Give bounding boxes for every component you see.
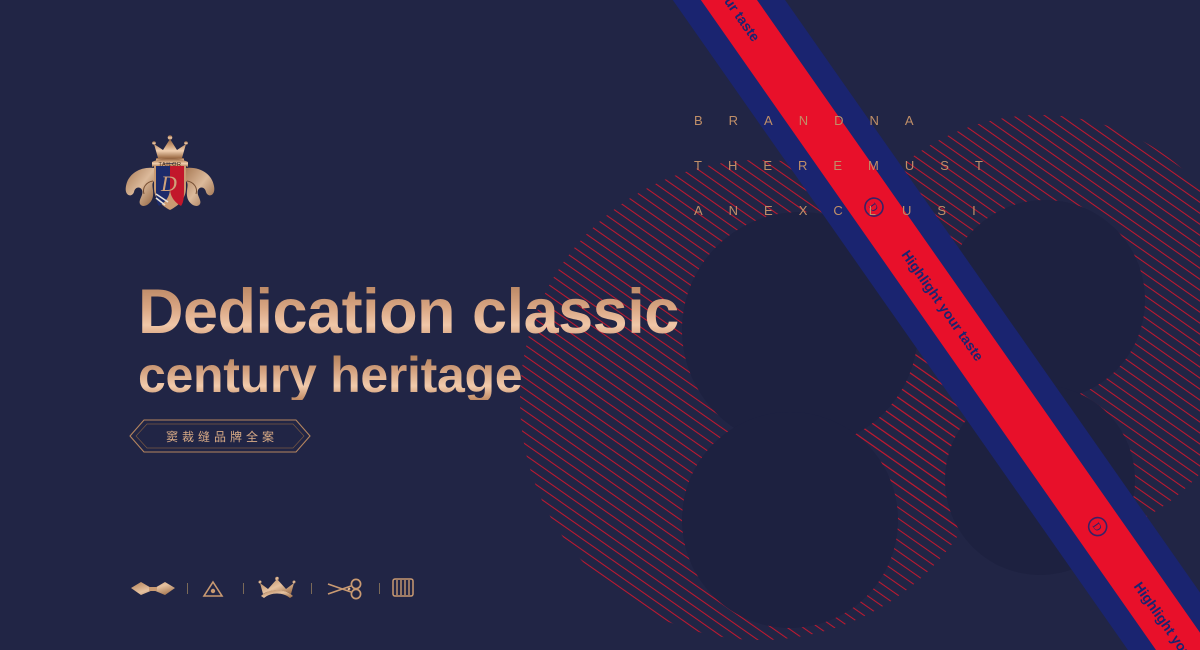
left-supporter-icon [126,168,155,206]
spaced-line-3: ANEXCLUSI [694,203,1002,218]
bowtie-icon[interactable] [131,582,175,595]
icon-divider [243,583,244,594]
scissors-icon[interactable] [328,579,361,598]
spaced-line-1: BRANDNA [694,113,940,128]
crown-icon[interactable] [259,577,296,598]
icon-divider [311,583,312,594]
spaced-line-2: THEREMUST [694,158,1009,173]
poster-canvas: D D Highlight your taste Highlight your … [0,0,1200,650]
icon-divider [379,583,380,594]
brand-logo-crest[interactable]: D TAILOR [126,135,215,210]
headline-line-1: Dedication classic [138,281,679,344]
dark-circle-b [682,412,898,628]
chinese-badge-label: 窦裁缝品牌全案 [130,420,310,452]
chinese-badge[interactable]: 窦裁缝品牌全案 [130,420,310,452]
headline-line-2: century heritage [138,350,679,400]
shield-icon: D [154,164,186,210]
svg-text:TAILOR: TAILOR [158,162,181,168]
thimble-icon[interactable] [204,582,222,596]
right-supporter-icon [185,168,214,206]
icon-divider [187,583,188,594]
svg-text:D: D [160,171,177,196]
tailoring-icon-row [131,577,413,599]
headline-block: Dedication classic century heritage [138,281,679,400]
crown-icon [152,135,188,162]
spool-icon[interactable] [393,579,413,596]
